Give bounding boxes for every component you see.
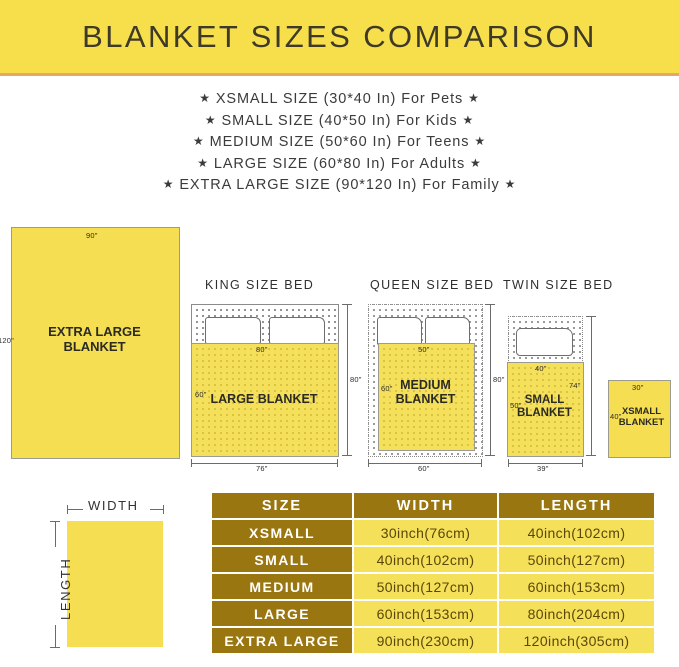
queen-blanket-width-label: 50" [418,345,430,354]
row-width: 30inch(76cm) [354,520,497,545]
bullet-item-medium: ★ MEDIUM SIZE (50*60 In) For Teens ★ [0,131,679,153]
page-title: BLANKET SIZES COMPARISON [0,0,679,73]
bullet-item-small: ★ SMALL SIZE (40*50 In) For Kids ★ [0,110,679,132]
legend-length-label: LENGTH [58,558,73,620]
twin-bed-width-label: 39" [537,464,549,473]
queen-width-tick-right [481,459,482,467]
bullet-label: EXTRA LARGE SIZE (90*120 In) For Family [179,177,499,193]
twin-length-tick-bottom [586,455,596,456]
legend-length-tick-top [50,521,60,522]
queen-width-tick-left [368,459,369,467]
queen-bed-title: QUEEN SIZE BED [370,278,494,292]
king-length-tick-bottom [342,455,352,456]
bullet-label: LARGE SIZE (60*80 In) For Adults [214,156,465,172]
star-icon: ★ [193,134,205,148]
queen-pillow-right [425,317,470,345]
legend-width-tick-right [163,505,164,514]
table-row: EXTRA LARGE 90inch(230cm) 120inch(305cm) [212,628,654,653]
infographic-page: BLANKET SIZES COMPARISON ★ XSMALL SIZE (… [0,0,679,667]
bullet-label: MEDIUM SIZE (50*60 In) For Teens [210,134,470,150]
row-size: EXTRA LARGE [212,628,352,653]
star-icon: ★ [505,177,517,191]
row-length: 120inch(305cm) [499,628,654,653]
legend-length-line-bottom [55,625,56,647]
star-icon: ★ [474,134,486,148]
queen-bed-width-label: 60" [418,464,430,473]
bullet-item-extra-large: ★ EXTRA LARGE SIZE (90*120 In) For Famil… [0,174,679,196]
twin-bed-length-label: 74" [569,381,581,390]
king-blanket-width-label: 80" [256,345,268,354]
star-icon: ★ [199,91,211,105]
row-size: MEDIUM [212,574,352,599]
table-header-size: SIZE [212,493,352,518]
table-row: LARGE 60inch(153cm) 80inch(204cm) [212,601,654,626]
row-length: 50inch(127cm) [499,547,654,572]
twin-pillow [516,328,573,356]
bullet-item-xsmall: ★ XSMALL SIZE (30*40 In) For Pets ★ [0,88,679,110]
row-size: LARGE [212,601,352,626]
extra-large-width-label: 90" [86,231,98,240]
star-icon: ★ [163,177,175,191]
bullet-item-large: ★ LARGE SIZE (60*80 In) For Adults ★ [0,153,679,175]
row-width: 90inch(230cm) [354,628,497,653]
twin-length-dimline [591,316,592,455]
header-underline [0,73,679,76]
table-header-length: LENGTH [499,493,654,518]
bullet-label: XSMALL SIZE (30*40 In) For Pets [216,91,463,107]
legend-length-line-top [55,521,56,547]
queen-bed-length-label: 80" [493,375,505,384]
king-width-tick-right [337,459,338,467]
xsmall-blanket-name: XSMALL BLANKET [614,407,669,428]
king-bed-width-label: 76" [256,464,268,473]
king-length-dimline [347,304,348,455]
king-pillow-right [269,317,325,344]
legend-blanket-swatch [67,521,163,647]
table-row: MEDIUM 50inch(127cm) 60inch(153cm) [212,574,654,599]
xsmall-width-label: 30" [632,383,644,392]
star-icon: ★ [197,156,209,170]
queen-length-tick-top [485,304,495,305]
legend-width-line-left [67,509,83,510]
twin-blanket-name: SMALL BLANKET [507,394,582,420]
king-pillow-left [205,317,261,344]
queen-blanket-name: MEDIUM BLANKET [378,378,473,406]
queen-length-tick-bottom [485,455,495,456]
row-length: 60inch(153cm) [499,574,654,599]
queen-length-dimline [490,304,491,455]
row-size: SMALL [212,547,352,572]
queen-pillow-left [377,317,422,345]
table-header-row: SIZE WIDTH LENGTH [212,493,654,518]
twin-length-tick-top [586,316,596,317]
size-table: SIZE WIDTH LENGTH XSMALL 30inch(76cm) 40… [210,491,656,655]
table-header-width: WIDTH [354,493,497,518]
king-length-tick-top [342,304,352,305]
legend-length-tick-bottom [50,647,60,648]
twin-width-tick-left [508,459,509,467]
row-size: XSMALL [212,520,352,545]
twin-bed-title: TWIN SIZE BED [503,278,614,292]
star-icon: ★ [205,113,217,127]
bullet-label: SMALL SIZE (40*50 In) For Kids [222,113,458,129]
legend-width-line-right [150,509,164,510]
king-bed-length-label: 80" [350,375,362,384]
row-length: 40inch(102cm) [499,520,654,545]
twin-blanket-width-label: 40" [535,364,547,373]
star-icon: ★ [468,91,480,105]
star-icon: ★ [470,156,482,170]
twin-width-tick-right [582,459,583,467]
star-icon: ★ [462,113,474,127]
legend-width-tick-left [67,505,68,514]
king-blanket-name: LARGE BLANKET [191,392,337,406]
row-width: 40inch(102cm) [354,547,497,572]
table-row: XSMALL 30inch(76cm) 40inch(102cm) [212,520,654,545]
row-width: 50inch(127cm) [354,574,497,599]
king-bed-title: KING SIZE BED [205,278,314,292]
row-length: 80inch(204cm) [499,601,654,626]
row-width: 60inch(153cm) [354,601,497,626]
size-bullet-list: ★ XSMALL SIZE (30*40 In) For Pets ★ ★ SM… [0,88,679,196]
table-row: SMALL 40inch(102cm) 50inch(127cm) [212,547,654,572]
king-width-tick-left [191,459,192,467]
legend-width-label: WIDTH [88,498,139,513]
extra-large-blanket-name: EXTRA LARGE BLANKET [11,325,178,354]
